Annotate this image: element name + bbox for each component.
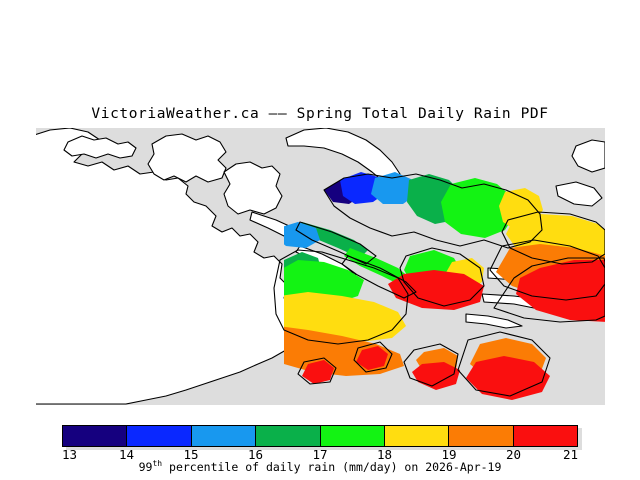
- caption-prefix: 99: [139, 460, 153, 474]
- north-island-cluster-b: [224, 162, 282, 214]
- colorbar-caption: 99th percentile of daily rain (mm/day) o…: [0, 459, 640, 474]
- page-title: VictoriaWeather.ca —— Spring Total Daily…: [0, 106, 640, 122]
- weather-map-page: VictoriaWeather.ca —— Spring Total Daily…: [0, 0, 640, 480]
- colorbar[interactable]: [62, 425, 578, 447]
- colorbar-segment-14-15[interactable]: [127, 426, 191, 446]
- colorbar-segment-18-19[interactable]: [385, 426, 449, 446]
- caption-rest: percentile of daily rain (mm/day) on 202…: [162, 460, 501, 474]
- colorbar-segment-17-18[interactable]: [321, 426, 385, 446]
- colorbar-segment-13-14[interactable]: [63, 426, 127, 446]
- north-island-cluster-a: [148, 134, 226, 182]
- colorbar-segments[interactable]: [62, 425, 578, 447]
- colorbar-segment-16-17[interactable]: [256, 426, 320, 446]
- colorbar-segment-20-21[interactable]: [514, 426, 577, 446]
- caption-superscript: th: [152, 459, 162, 468]
- colorbar-segment-15-16[interactable]: [192, 426, 256, 446]
- map-panel[interactable]: [36, 128, 605, 405]
- colorbar-segment-19-20[interactable]: [449, 426, 513, 446]
- precipitation-map: [36, 128, 605, 405]
